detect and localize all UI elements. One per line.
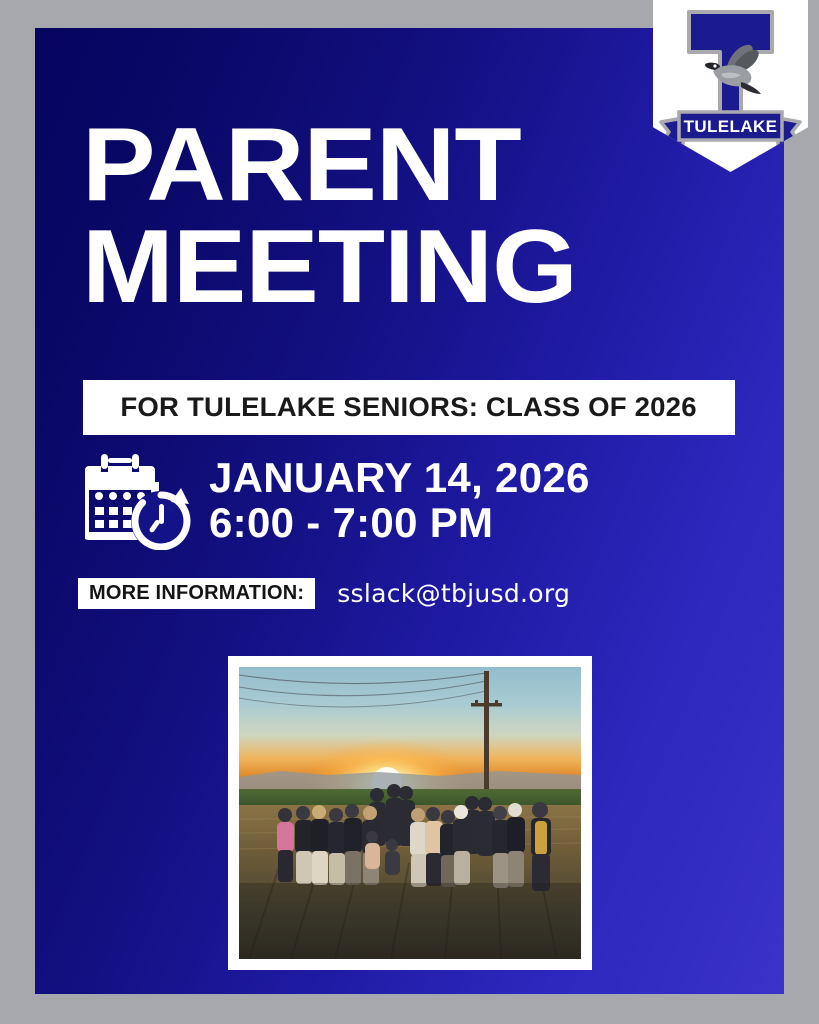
flyer-canvas: PARENT MEETING FOR TULELAKE SENIORS: CLA… <box>0 0 819 1024</box>
subtitle-text: FOR TULELAKE SENIORS: CLASS OF 2026 <box>121 392 697 423</box>
poster-panel: PARENT MEETING FOR TULELAKE SENIORS: CLA… <box>35 28 784 994</box>
page-title: PARENT MEETING <box>82 116 722 318</box>
more-information-label: MORE INFORMATION: <box>89 582 304 605</box>
contact-row: MORE INFORMATION: sslack@tbjusd.org <box>78 578 570 609</box>
subtitle-bar: FOR TULELAKE SENIORS: CLASS OF 2026 <box>83 380 735 435</box>
contact-email[interactable]: sslack@tbjusd.org <box>337 579 570 608</box>
event-date: JANUARY 14, 2026 <box>209 455 590 500</box>
event-time: 6:00 - 7:00 PM <box>209 500 590 545</box>
photo-frame <box>228 656 592 970</box>
more-information-badge: MORE INFORMATION: <box>78 578 315 609</box>
event-datetime-block: JANUARY 14, 2026 6:00 - 7:00 PM <box>85 450 590 550</box>
logo-ribbon-text: TULELAKE <box>684 117 778 136</box>
senior-class-sunset-group-photo <box>239 667 581 959</box>
event-datetime-text: JANUARY 14, 2026 6:00 - 7:00 PM <box>209 455 590 546</box>
calendar-clock-icon <box>85 450 193 550</box>
headline-line-2: MEETING <box>82 218 760 318</box>
headline-line-1: PARENT <box>82 116 760 216</box>
